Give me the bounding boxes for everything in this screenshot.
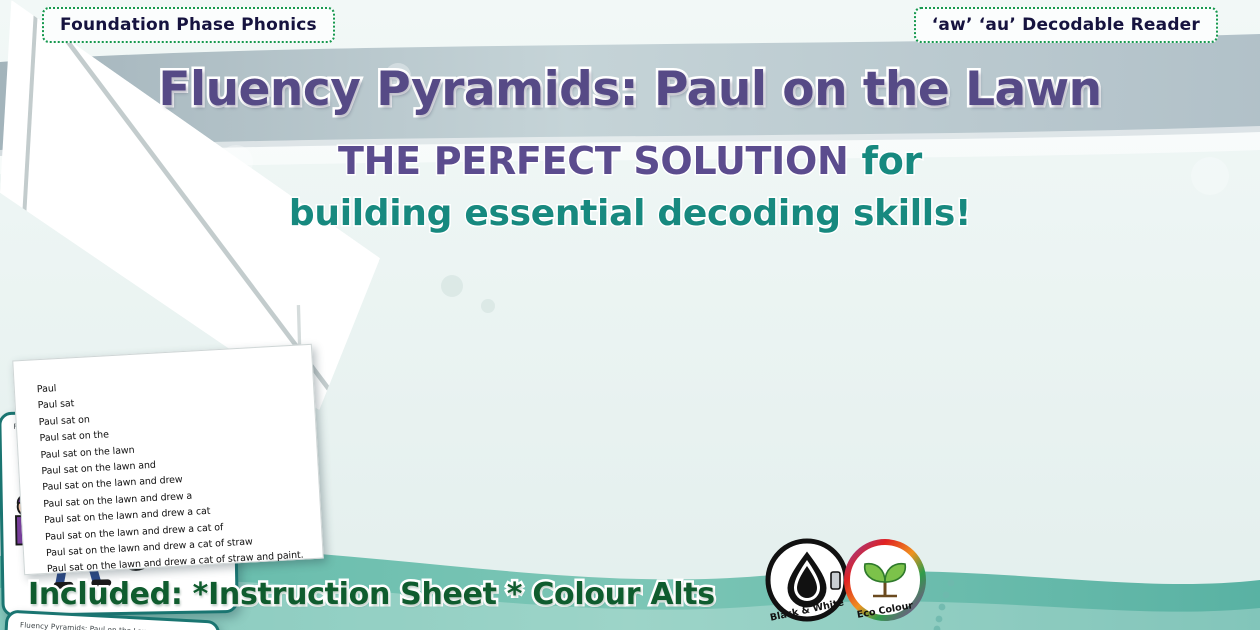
poster-canvas: Foundation Phase Phonics ‘aw’ ‘au’ Decod…: [0, 0, 1260, 630]
included-banner-text: Included: *Instruction Sheet * Colour Al…: [28, 577, 715, 612]
black-and-white-badge: Black & White: [765, 538, 849, 622]
eco-colour-badge: Eco Colour: [843, 538, 927, 622]
badge-foundation-phase-phonics: Foundation Phase Phonics: [42, 7, 335, 43]
badge-decodable-reader: ‘aw’ ‘au’ Decodable Reader: [914, 7, 1218, 43]
pyramid-sheet-back: PaulPaul satPaul sat onPaul sat on thePa…: [12, 344, 324, 575]
subtitle-line-2: building essential decoding skills!: [0, 193, 1260, 234]
badge-right-label: ‘aw’ ‘au’ Decodable Reader: [932, 15, 1200, 35]
subtitle-purple-text: THE PERFECT SOLUTION: [338, 139, 849, 183]
pyramid-back-lines: PaulPaul satPaul sat onPaul sat on thePa…: [36, 367, 317, 579]
card2-title: Fluency Pyramids: Paul on the Lawn: [20, 620, 207, 630]
page-title: Fluency Pyramids: Paul on the Lawn: [0, 62, 1260, 117]
headline-block: Fluency Pyramids: Paul on the Lawn THE P…: [0, 62, 1260, 234]
badge-left-label: Foundation Phase Phonics: [60, 15, 317, 35]
subtitle-teal-text: for: [849, 139, 922, 183]
subtitle-line-1: THE PERFECT SOLUTION for: [0, 139, 1260, 183]
